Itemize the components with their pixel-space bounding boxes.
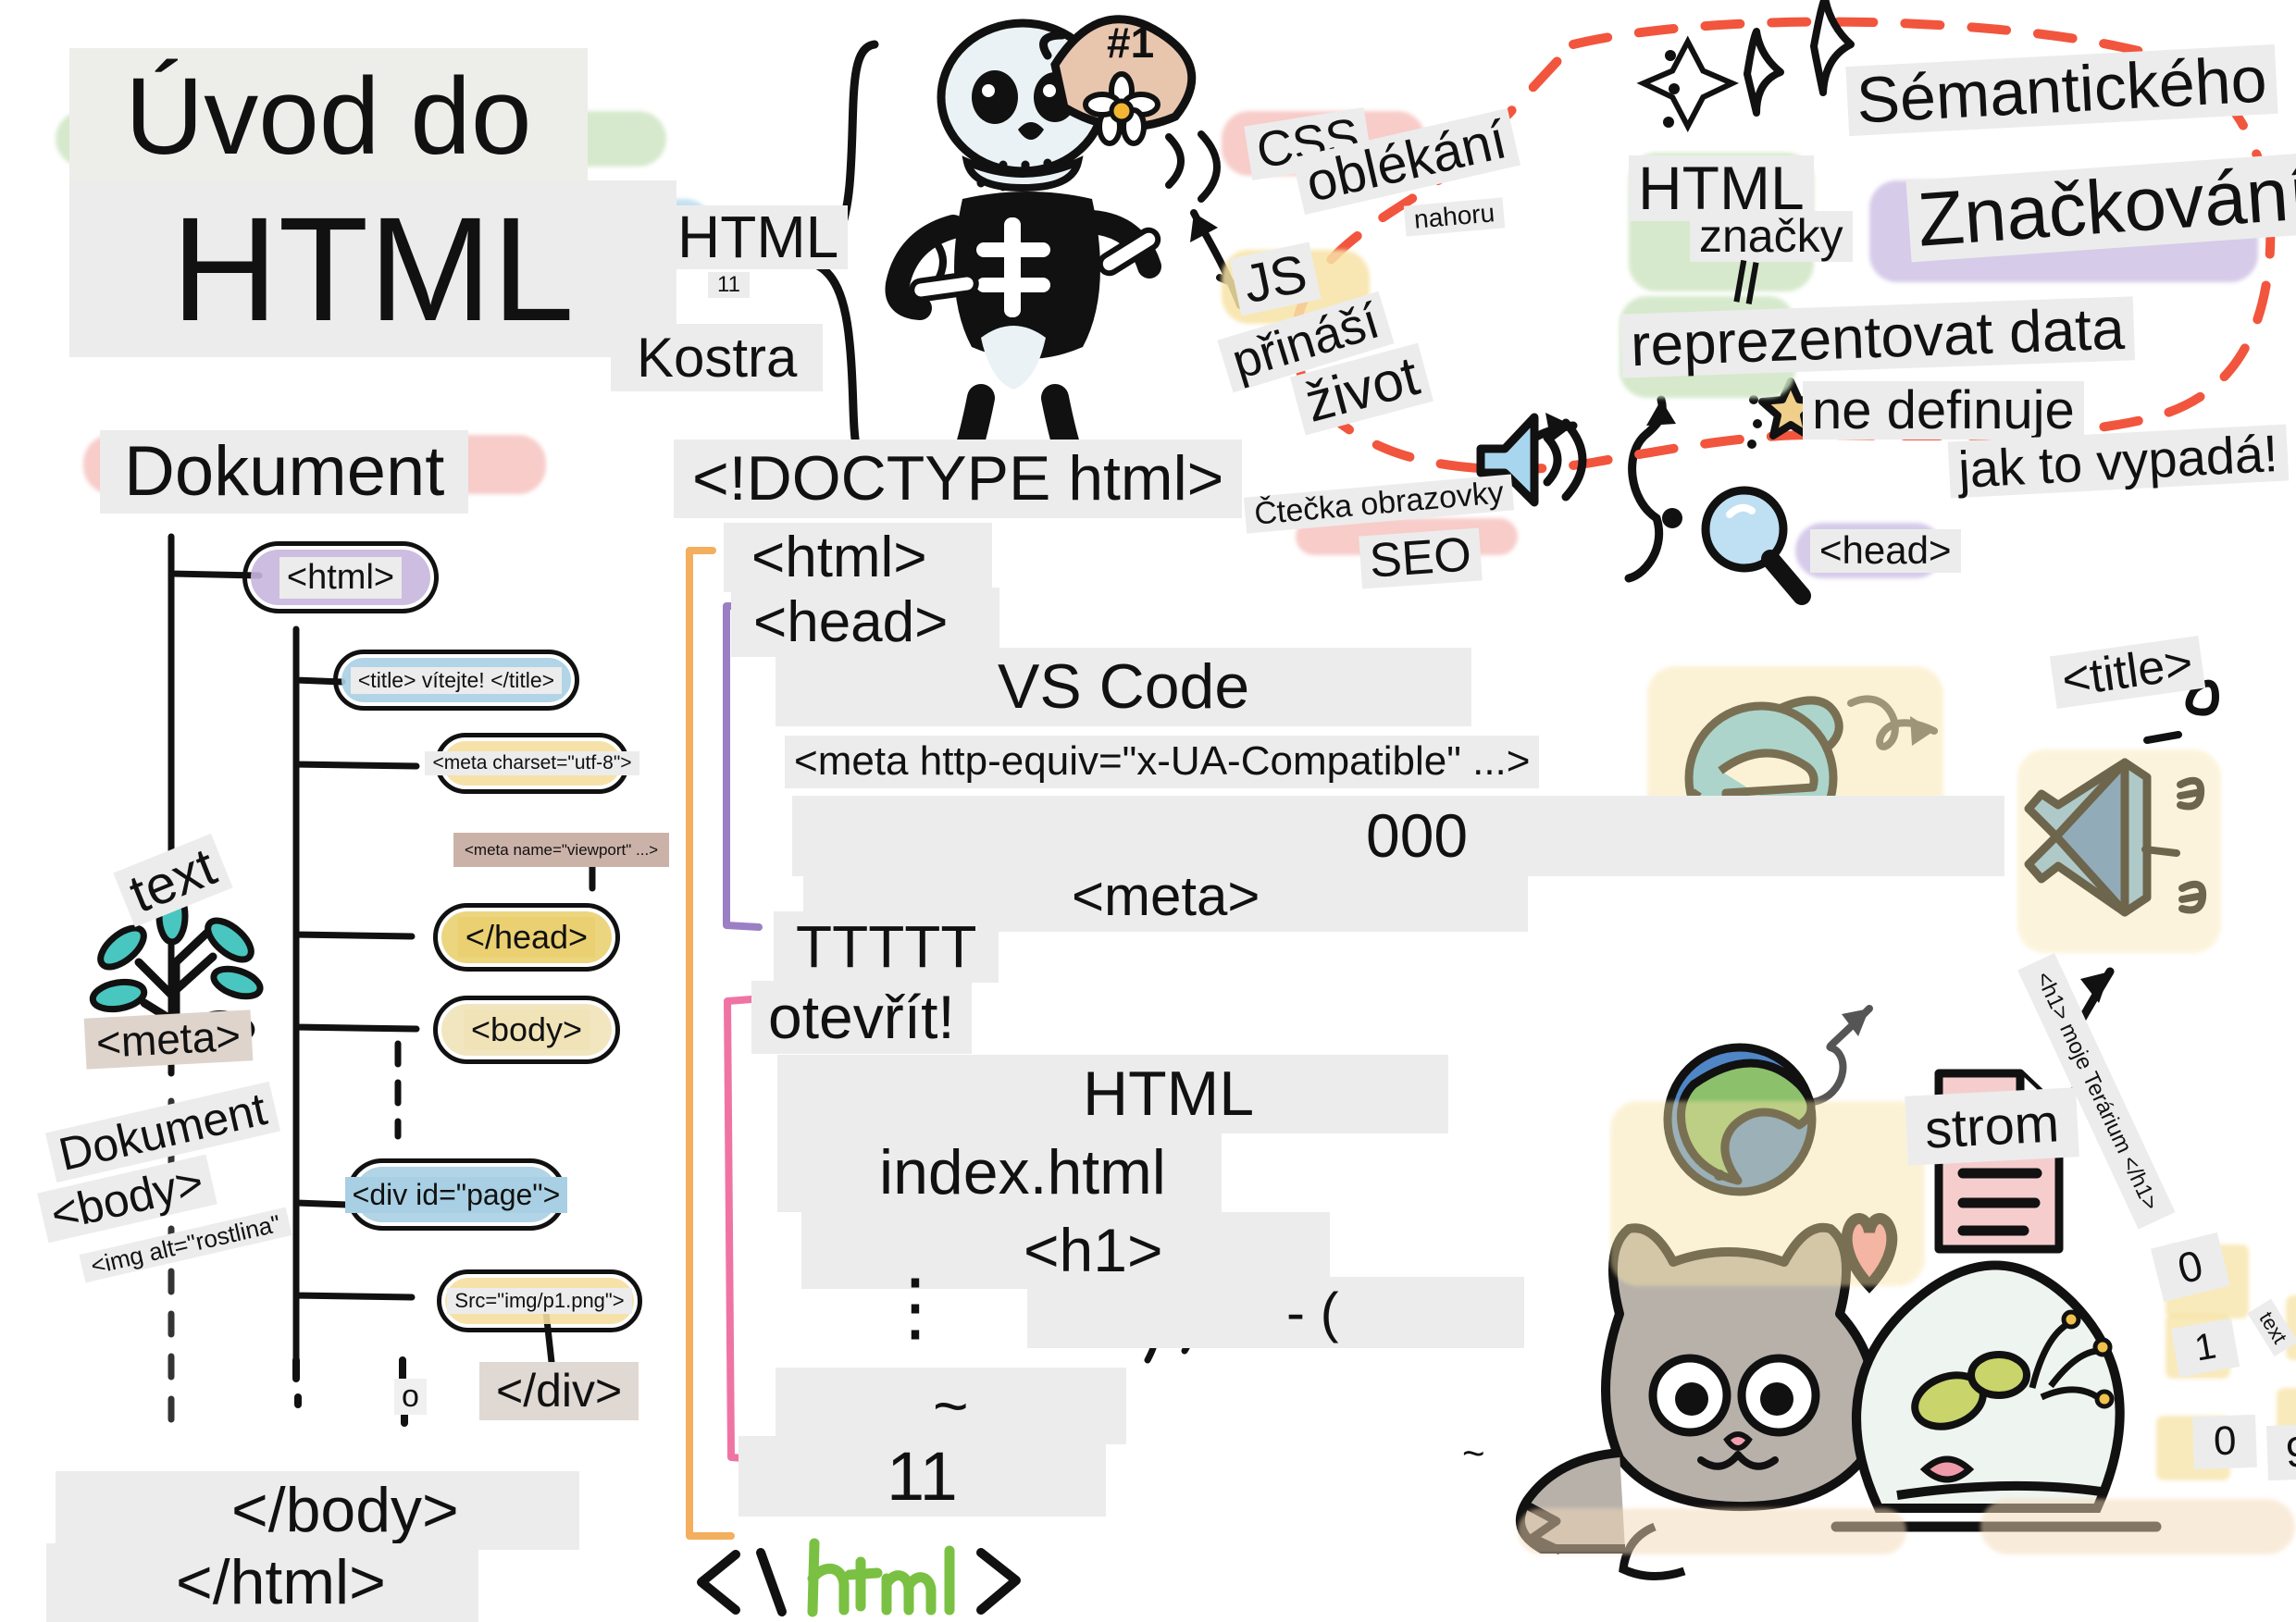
kostra-label: Kostra (611, 324, 823, 391)
tree-node-div-page-label: <div id="page"> (345, 1177, 568, 1213)
html-skeleton-label: HTML (668, 205, 848, 269)
tree-node-img-src[interactable]: Src="img/p1.png"> (437, 1269, 642, 1332)
page-title-line1: Úvod do (69, 48, 588, 185)
tree-node-div-page[interactable]: <div id="page"> (346, 1158, 566, 1231)
body-bracket (727, 999, 768, 1460)
closing-body-tag: </body> (56, 1471, 579, 1550)
magnifier-icon (1706, 490, 1802, 596)
tree-node-body-open-label: <body> (464, 1009, 590, 1050)
sticky-note-1: 1 (2171, 1319, 2240, 1377)
highlight-peach (1518, 1508, 1906, 1554)
code-eleven: 11 (738, 1436, 1106, 1517)
svg-text:#1: #1 (1107, 19, 1154, 67)
tree-node-title[interactable]: <title> vítejte! </title> (333, 650, 579, 711)
tree-node-meta-viewport[interactable]: <meta name="viewport" ...> (453, 833, 669, 867)
tree-node-meta-charset-label: <meta charset="utf-8"> (425, 751, 639, 775)
sketchnote-canvas: #1 (0, 0, 2296, 1618)
znacky-label: značky (1690, 211, 1853, 262)
semantickeho-label: Sémantického (1845, 44, 2277, 137)
closing-html-tag: </html> (46, 1543, 478, 1622)
code-ttttt: TTTTT (774, 911, 999, 983)
title-tag-label: <title> (2050, 636, 2205, 709)
tree-node-head-close-label: </head> (458, 917, 595, 958)
note-o-mark: o (394, 1379, 427, 1415)
tree-node-img-src-label: Src="img/p1.png"> (447, 1288, 631, 1314)
terrarium-icon (1836, 1265, 2156, 1527)
page-title-line2: HTML (69, 180, 676, 357)
code-smiley: - ( (1027, 1277, 1524, 1348)
highlight-yellow-4 (2017, 749, 2221, 953)
html-bracket (689, 551, 731, 1536)
sparkle-icon-2 (1747, 0, 1851, 113)
code-doctype: <!DOCTYPE html> (674, 440, 1242, 518)
handwritten-html-close (701, 1543, 1016, 1612)
code-otevrit: otevřít! (751, 981, 972, 1054)
dokument-heading: Dokument (100, 430, 468, 514)
html-superscript: 11 (708, 272, 750, 298)
sparkle-icon (1644, 42, 1732, 127)
sparkle-dots-2 (1663, 50, 1680, 128)
tree-node-html[interactable]: <html> (242, 541, 439, 613)
code-dots: ⋮ (877, 1286, 953, 1328)
note-meta: <meta> (84, 1009, 254, 1069)
note-text: text (113, 834, 232, 927)
semantic-head-tag-label: <head> (1810, 529, 1961, 573)
code-tilde: ~ (776, 1368, 1126, 1444)
highlight-peach-2 (1980, 1499, 2295, 1554)
skeleton-character-icon: #1 (898, 19, 1192, 489)
cat-scene-tilde: ~ (1462, 1434, 1485, 1474)
tree-node-html-label: <html> (279, 557, 402, 599)
code-html-open: <html> (724, 523, 992, 592)
tree-node-head-close[interactable]: </head> (433, 903, 620, 972)
code-vscode: VS Code (776, 648, 1471, 726)
tree-node-body-open[interactable]: <body> (433, 996, 620, 1064)
ne-definuje-label: ne definuje (1803, 381, 2084, 440)
seo-label: SEO (1359, 528, 1482, 589)
sticky-note-9: 9 (2266, 1424, 2296, 1480)
tree-node-meta-charset[interactable]: <meta charset="utf-8"> (435, 733, 629, 794)
code-head-open: <head> (731, 588, 999, 657)
strom-label: strom (1905, 1087, 2079, 1166)
sparkle-dots (1747, 395, 1762, 449)
highlight-yellow-3 (1610, 1101, 1925, 1286)
sticky-note-0b: 0 (2192, 1415, 2257, 1469)
tree-node-div-close[interactable]: </div> (479, 1362, 639, 1420)
code-index-html: index.html (777, 1133, 1222, 1212)
code-html-word: HTML (777, 1055, 1448, 1133)
tree-node-title-label: <title> vítejte! </title> (351, 667, 562, 694)
nahoru-label: nahoru (1404, 197, 1506, 236)
code-meta-http-equiv: <meta http-equiv="x-UA-Compatible" ...> (785, 736, 1539, 788)
